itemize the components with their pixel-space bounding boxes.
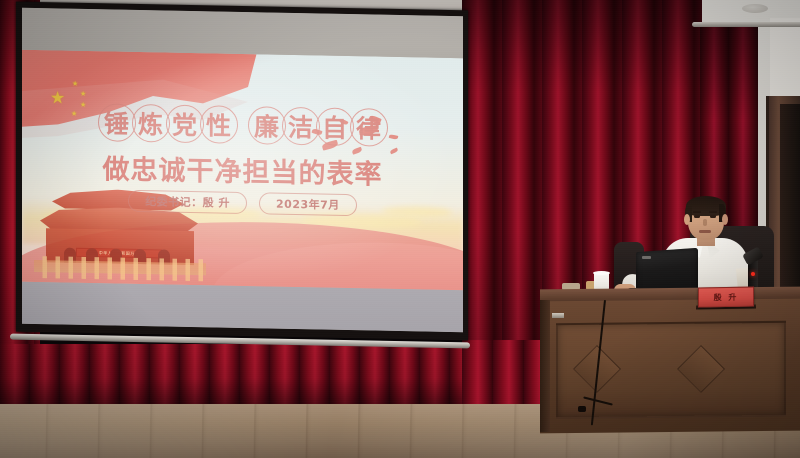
title-char-6: 洁 <box>282 107 320 146</box>
curtain-skirt-below-screen <box>0 344 472 406</box>
paper-cup-rim <box>593 271 610 275</box>
nameplate-text: 殷 升 <box>714 291 739 302</box>
podium-metal-plate <box>552 313 564 318</box>
title-char-4: 性 <box>200 105 238 144</box>
person-ear-left <box>684 214 690 225</box>
person-brow-left <box>693 211 701 213</box>
desk-nameplate: 殷 升 <box>698 287 754 308</box>
title-char-8: 律 <box>350 108 388 147</box>
person-eye-left <box>694 215 700 218</box>
person-brow-right <box>709 211 717 213</box>
gate-pillars <box>34 256 210 281</box>
laptop-logo-icon <box>642 256 651 259</box>
screenshot-scene: ★ ★ ★ ★ ★ <box>0 0 800 458</box>
projection-screen-surface: ★ ★ ★ ★ ★ <box>22 8 463 332</box>
person-eye-right <box>710 215 716 218</box>
title-char-1: 锤 <box>98 103 136 142</box>
title-char-7: 自 <box>316 107 354 146</box>
title-char-3: 党 <box>166 105 204 144</box>
cable-plug <box>578 406 586 412</box>
ceiling-vent-icon <box>742 4 768 13</box>
letterbox-top <box>22 8 463 58</box>
microphone-led-indicator <box>751 272 755 276</box>
person-ear-right <box>722 214 728 225</box>
presentation-slide: ★ ★ ★ ★ ★ <box>22 50 463 290</box>
title-char-5: 廉 <box>248 106 286 145</box>
person-nose <box>703 219 707 226</box>
podium-left-edge <box>540 300 550 432</box>
curtain-rod <box>692 22 800 27</box>
person-mouth <box>699 230 711 233</box>
slide-title: 锤 炼 党 性 廉 洁 自 律 <box>22 102 463 148</box>
date-pill: 2023年7月 <box>259 192 357 216</box>
letterbox-bottom <box>22 282 463 332</box>
flag-star-small-icon-2: ★ <box>80 91 86 98</box>
flag-star-small-icon-1: ★ <box>72 81 78 88</box>
speaker-pill: 纪委书记：殷 升 <box>128 190 247 214</box>
title-char-2: 炼 <box>132 104 170 143</box>
